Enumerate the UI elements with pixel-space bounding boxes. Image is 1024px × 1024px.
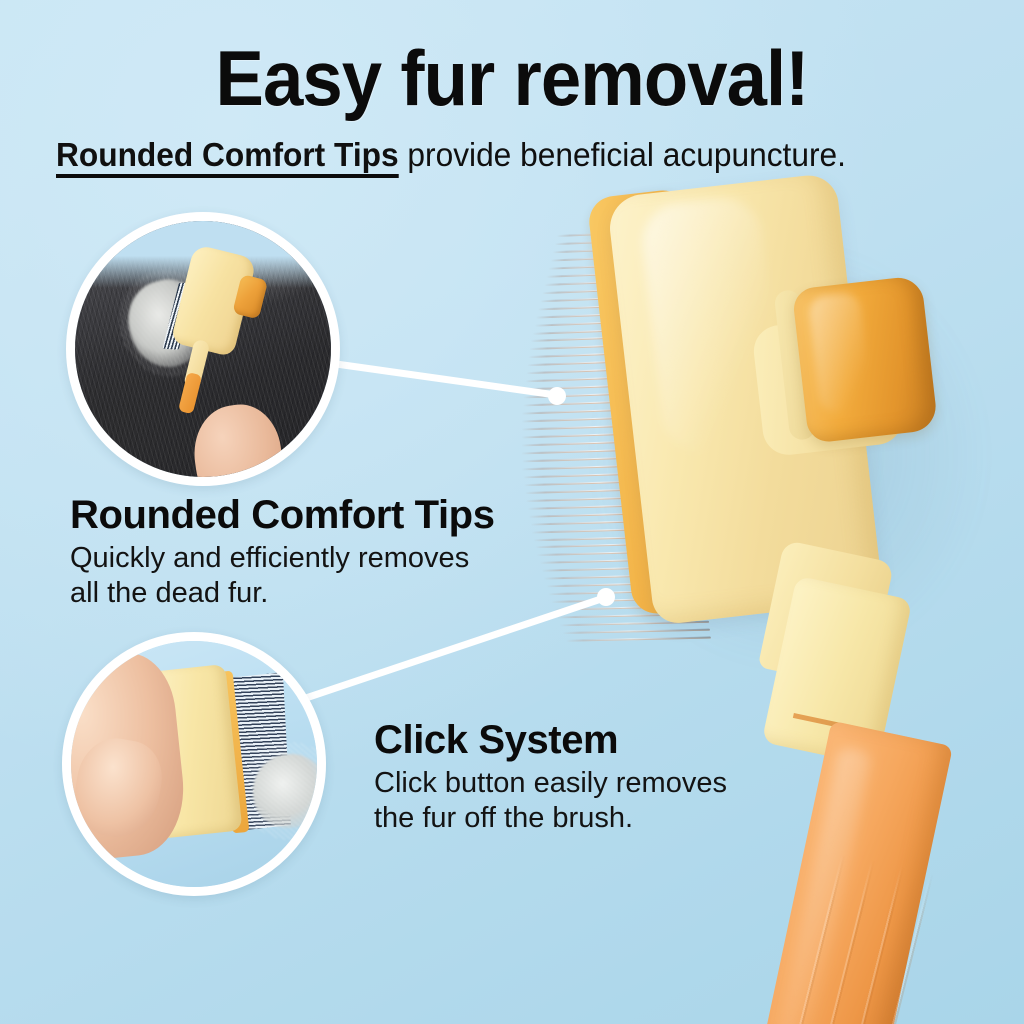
feature-title-rounded-comfort-tips: Rounded Comfort Tips bbox=[70, 493, 495, 537]
inset-photo-click-system bbox=[62, 632, 326, 896]
feature-title-click-system: Click System bbox=[374, 718, 618, 762]
page-title: Easy fur removal! bbox=[36, 36, 988, 120]
feature-body-rounded-comfort-tips: Quickly and efficiently removes all the … bbox=[70, 541, 469, 611]
subtitle-rest: provide beneficial acupuncture. bbox=[399, 136, 846, 173]
subtitle-highlight: Rounded Comfort Tips bbox=[56, 136, 399, 178]
brush-pin bbox=[563, 629, 710, 634]
cat-brushing-photo bbox=[75, 221, 331, 477]
infographic-canvas: Easy fur removal! Rounded Comfort Tips p… bbox=[0, 0, 1024, 1024]
inset-photo-rounded-comfort-tips bbox=[66, 212, 340, 486]
feature-body-click-system: Click button easily removes the fur off … bbox=[374, 766, 727, 836]
product-image bbox=[470, 170, 1024, 1024]
released-fur-clump bbox=[253, 754, 326, 828]
fur-release-photo bbox=[71, 641, 317, 887]
